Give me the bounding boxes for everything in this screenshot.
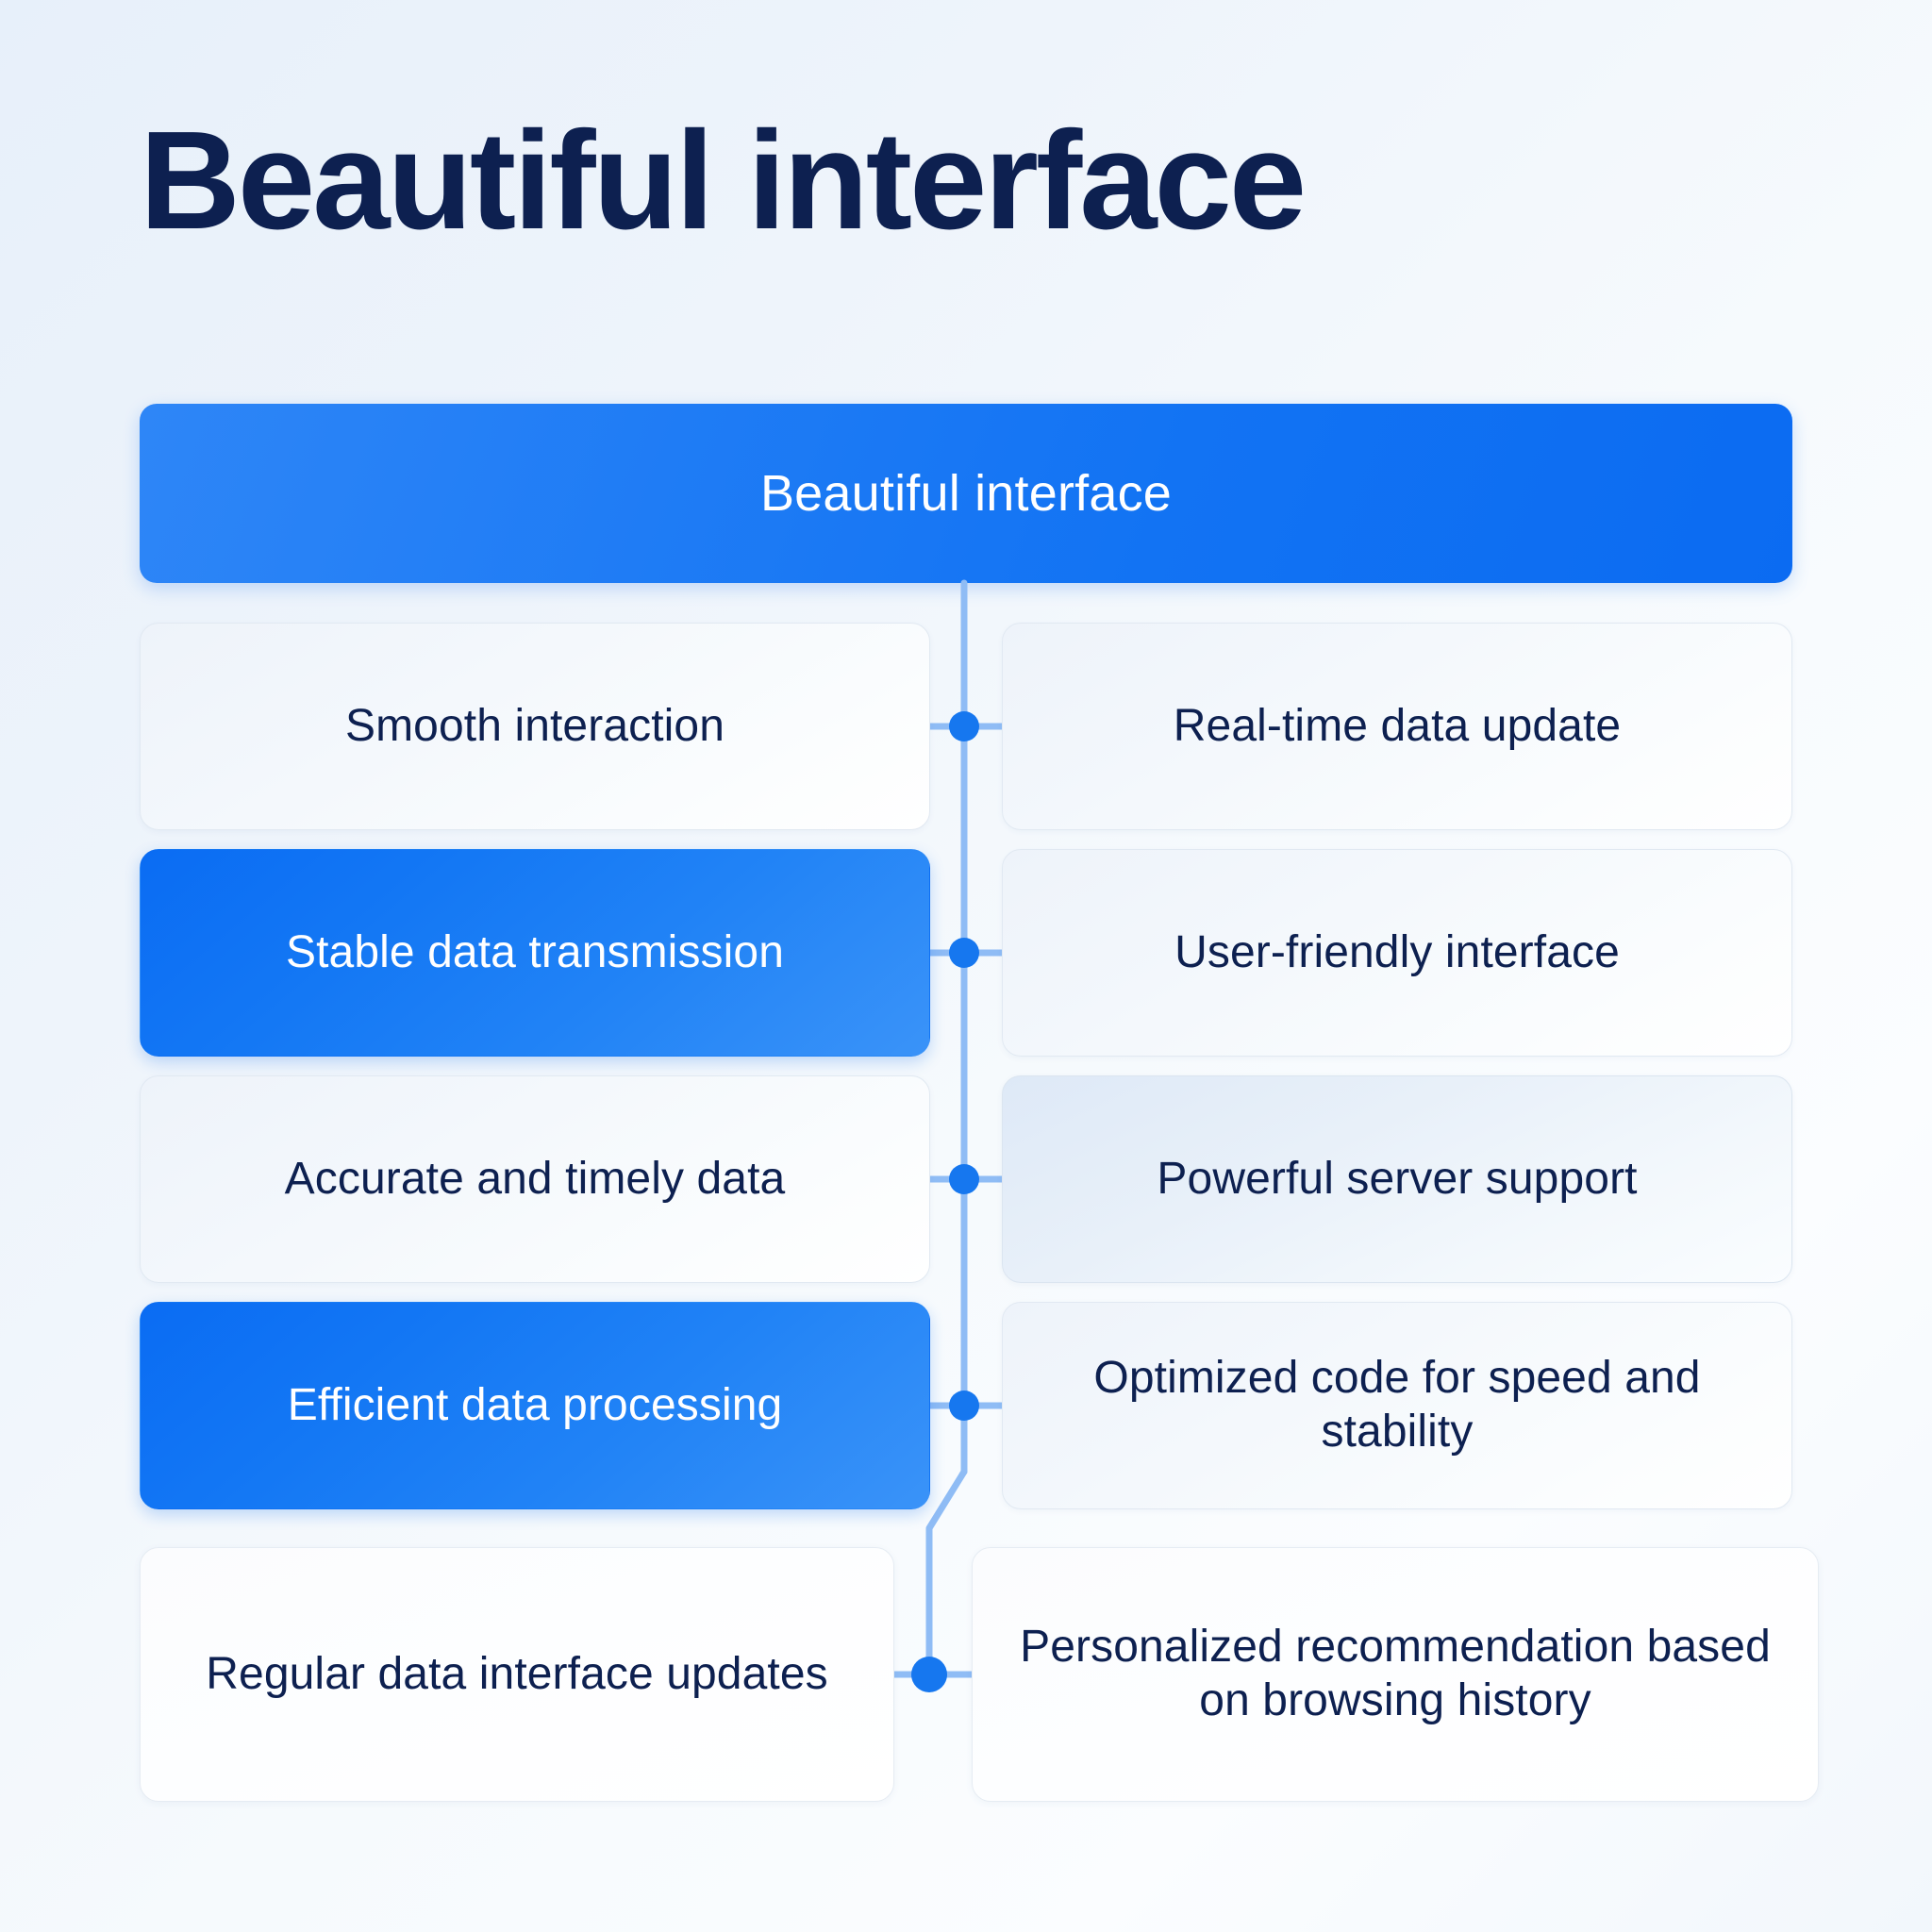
node-grid: Smooth interaction Real-time data update…: [0, 0, 1932, 1932]
node-card-right-5[interactable]: Personalized recommendation based on bro…: [972, 1547, 1819, 1802]
node-card-label: Powerful server support: [1157, 1153, 1637, 1207]
node-card-label: Smooth interaction: [345, 700, 724, 754]
node-card-label: Stable data transmission: [286, 926, 784, 980]
node-card-label: Efficient data processing: [288, 1379, 783, 1433]
node-card-label: Optimized code for speed and stability: [1035, 1352, 1759, 1458]
node-card-label: User-friendly interface: [1174, 926, 1620, 980]
node-card-label: Real-time data update: [1174, 700, 1621, 754]
node-card-left-1[interactable]: Smooth interaction: [140, 623, 930, 830]
node-card-left-3[interactable]: Accurate and timely data: [140, 1075, 930, 1283]
node-card-label: Accurate and timely data: [285, 1153, 786, 1207]
node-card-left-2[interactable]: Stable data transmission: [140, 849, 930, 1057]
node-card-label: Regular data interface updates: [206, 1648, 827, 1702]
node-card-left-5[interactable]: Regular data interface updates: [140, 1547, 894, 1802]
node-card-right-2[interactable]: User-friendly interface: [1002, 849, 1792, 1057]
node-card-right-1[interactable]: Real-time data update: [1002, 623, 1792, 830]
node-card-label: Personalized recommendation based on bro…: [1005, 1621, 1786, 1727]
node-card-right-3[interactable]: Powerful server support: [1002, 1075, 1792, 1283]
node-card-left-4[interactable]: Efficient data processing: [140, 1302, 930, 1509]
node-card-right-4[interactable]: Optimized code for speed and stability: [1002, 1302, 1792, 1509]
